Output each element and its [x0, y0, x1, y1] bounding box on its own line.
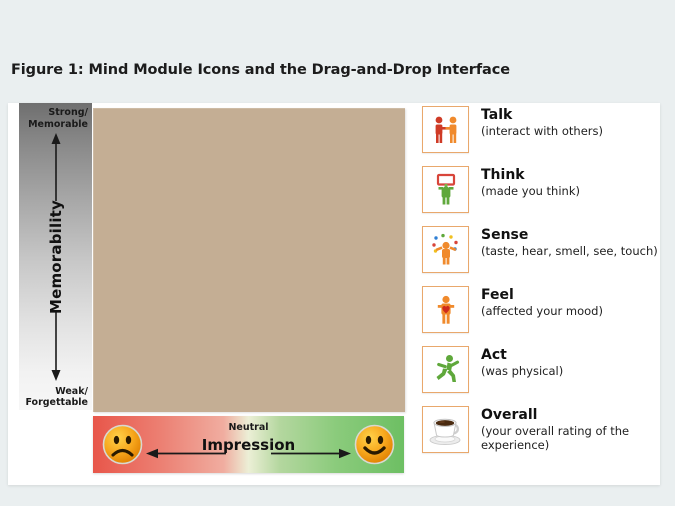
module-text-sense: Sense (taste, hear, smell, see, touch): [481, 226, 658, 258]
module-text-act: Act (was physical): [481, 346, 563, 378]
coffee-cup-icon[interactable]: [422, 406, 469, 453]
up-arrow-icon: [52, 133, 61, 201]
person-holding-sign-icon[interactable]: [422, 166, 469, 213]
two-people-icon[interactable]: [422, 106, 469, 153]
module-label: Think: [481, 167, 580, 183]
memorability-axis: Strong/ Memorable Memorability Weak/ For…: [19, 103, 92, 410]
memorability-axis-title: Memorability: [47, 199, 65, 313]
module-description: (was physical): [481, 364, 563, 378]
juggling-person-icon[interactable]: [422, 226, 469, 273]
module-item-feel[interactable]: Feel (affected your mood): [422, 286, 658, 334]
memorability-axis-bottom-label: Weak/ Forgettable: [25, 386, 88, 409]
module-item-think[interactable]: Think (made you think): [422, 166, 658, 214]
module-item-talk[interactable]: Talk (interact with others): [422, 106, 658, 154]
module-item-overall[interactable]: Overall (your overall rating of the expe…: [422, 406, 658, 454]
module-item-act[interactable]: Act (was physical): [422, 346, 658, 394]
module-text-feel: Feel (affected your mood): [481, 286, 603, 318]
module-label: Overall: [481, 407, 658, 423]
module-description: (your overall rating of the experience): [481, 424, 658, 453]
module-label: Feel: [481, 287, 603, 303]
module-text-think: Think (made you think): [481, 166, 580, 198]
figure-card: Strong/ Memorable Memorability Weak/ For…: [8, 103, 660, 485]
module-label: Sense: [481, 227, 658, 243]
right-arrow-icon: [269, 448, 351, 459]
memorability-axis-top-label: Strong/ Memorable: [28, 107, 88, 130]
module-description: (affected your mood): [481, 304, 603, 318]
impression-bar[interactable]: Neutral Impression: [93, 416, 404, 473]
module-text-overall: Overall (your overall rating of the expe…: [481, 406, 658, 453]
module-label: Act: [481, 347, 563, 363]
down-arrow-icon: [52, 311, 61, 381]
module-description: (made you think): [481, 184, 580, 198]
person-with-heart-icon[interactable]: [422, 286, 469, 333]
module-legend-list: Talk (interact with others) Think: [422, 106, 658, 482]
happy-face-icon[interactable]: [354, 424, 395, 465]
drop-area-canvas[interactable]: [93, 108, 405, 412]
running-person-icon[interactable]: [422, 346, 469, 393]
module-item-sense[interactable]: Sense (taste, hear, smell, see, touch): [422, 226, 658, 274]
figure-caption: Figure 1: Mind Module Icons and the Drag…: [11, 62, 510, 78]
module-description: (taste, hear, smell, see, touch): [481, 244, 658, 258]
module-text-talk: Talk (interact with others): [481, 106, 603, 138]
module-description: (interact with others): [481, 124, 603, 138]
module-label: Talk: [481, 107, 603, 123]
